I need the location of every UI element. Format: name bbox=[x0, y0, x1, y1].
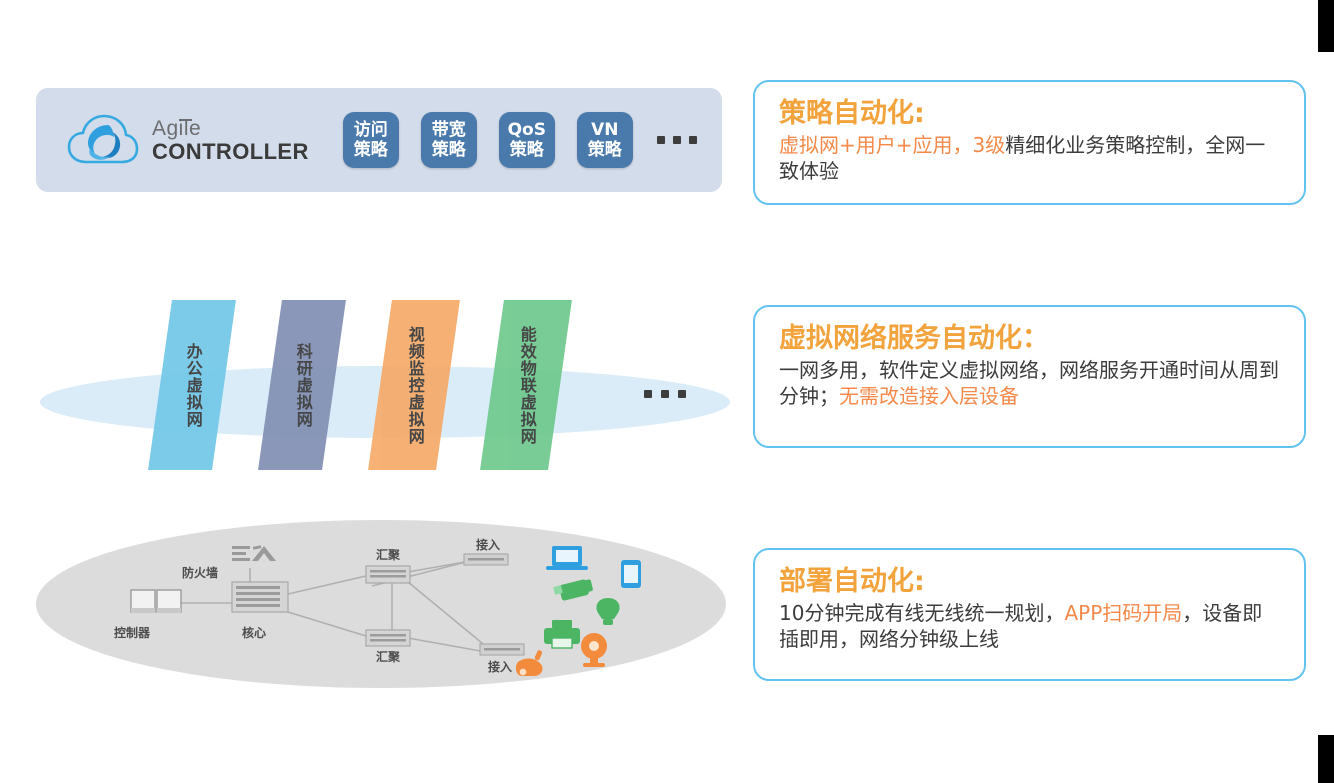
policy-more-ellipsis bbox=[657, 136, 697, 144]
virtual-network-service-automation-title: 虚拟网络服务自动化： bbox=[779, 323, 1282, 354]
ellipsis-dot bbox=[678, 390, 686, 398]
macron-accent bbox=[179, 119, 192, 121]
cloud-swirl-icon bbox=[66, 112, 140, 168]
slide-canvas: Agile CONTROLLER 访问 策略 带宽 策略 QoS 策略 VN 策… bbox=[0, 0, 1334, 783]
right-edge-bar-top bbox=[1318, 0, 1334, 52]
policy-automation-highlight: 虚拟网+用户+应用，3级 bbox=[779, 133, 1005, 157]
access-switch-icon-top bbox=[464, 554, 508, 565]
deployment-automation-title: 部署自动化: bbox=[779, 566, 1282, 597]
virtual-network-slices-graphic: 办公虚拟网 科研虚拟网 视频监控虚拟网 能效物联虚拟网 bbox=[36, 300, 736, 500]
access-top-node-label: 接入 bbox=[476, 536, 500, 553]
access-policy-button[interactable]: 访问 策略 bbox=[343, 112, 399, 168]
printer-icon bbox=[544, 620, 580, 648]
deployment-automation-body: 10分钟完成有线无线统一规划，APP扫码开局，设备即插即用，网络分钟级上线 bbox=[779, 600, 1282, 653]
agile-controller-logo: Agile CONTROLLER bbox=[66, 112, 309, 168]
tablet-icon bbox=[621, 560, 641, 588]
virtual-network-more-ellipsis bbox=[644, 390, 686, 398]
bandwidth-policy-button[interactable]: 带宽 策略 bbox=[421, 112, 477, 168]
research-vn-label: 科研虚拟网 bbox=[293, 343, 312, 428]
logo-brand-top: Agile bbox=[152, 118, 201, 139]
ellipsis-dot bbox=[644, 390, 652, 398]
aggregation-bottom-node-label: 汇聚 bbox=[376, 648, 400, 665]
core-switch-icon bbox=[232, 582, 288, 612]
ellipsis-dot bbox=[689, 136, 697, 144]
deployment-automation-card: 部署自动化: 10分钟完成有线无线统一规划，APP扫码开局，设备即插即用，网络分… bbox=[753, 548, 1306, 681]
aggregation-switch-icon-bottom bbox=[366, 630, 410, 646]
energy-iot-vn-label: 能效物联虚拟网 bbox=[517, 326, 536, 445]
access-bottom-node-label: 接入 bbox=[488, 658, 512, 675]
policy-button-row: 访问 策略 带宽 策略 QoS 策略 VN 策略 bbox=[343, 112, 697, 168]
dome-camera-icon bbox=[581, 633, 607, 667]
logo-wordmark: Agile CONTROLLER bbox=[152, 118, 309, 163]
office-vn-label: 办公虚拟网 bbox=[183, 343, 202, 428]
core-node-label: 核心 bbox=[242, 624, 266, 641]
policy-automation-card: 策略自动化: 虚拟网+用户+应用，3级精细化业务策略控制，全网一致体验 bbox=[753, 80, 1306, 205]
virtual-network-service-automation-card: 虚拟网络服务自动化： 一网多用，软件定义虚拟网络，网络服务开通时间从周到分钟；无… bbox=[753, 305, 1306, 448]
research-vn-slice: 科研虚拟网 bbox=[258, 300, 346, 470]
aggregation-switch-icon-top bbox=[366, 566, 410, 583]
energy-iot-vn-slice: 能效物联虚拟网 bbox=[480, 300, 572, 470]
ellipsis-dot bbox=[661, 390, 669, 398]
light-bulb-icon bbox=[596, 598, 619, 625]
controller-node-label: 控制器 bbox=[114, 624, 150, 641]
laptop-icon bbox=[546, 546, 588, 570]
policy-automation-body: 虚拟网+用户+应用，3级精细化业务策略控制，全网一致体验 bbox=[779, 132, 1282, 185]
aggregation-top-node-label: 汇聚 bbox=[376, 546, 400, 563]
server-pair-icon bbox=[131, 590, 181, 613]
video-surveillance-vn-label: 视频监控虚拟网 bbox=[405, 326, 424, 445]
deployment-topology-graphic: 控制器 防火墙 核心 汇聚 汇聚 接入 接入 bbox=[36, 520, 736, 690]
office-vn-slice: 办公虚拟网 bbox=[148, 300, 236, 470]
vn-policy-button[interactable]: VN 策略 bbox=[577, 112, 633, 168]
policy-automation-title: 策略自动化: bbox=[779, 98, 1282, 129]
logo-brand-bottom: CONTROLLER bbox=[152, 141, 309, 163]
access-switch-icon-bottom bbox=[480, 644, 524, 655]
vn-service-body-highlight: 无需改造接入层设备 bbox=[839, 384, 1019, 408]
qos-policy-button[interactable]: QoS 策略 bbox=[499, 112, 555, 168]
firewall-icon bbox=[232, 545, 276, 561]
firewall-node-label: 防火墙 bbox=[182, 564, 218, 581]
virtual-network-service-automation-body: 一网多用，软件定义虚拟网络，网络服务开通时间从周到分钟；无需改造接入层设备 bbox=[779, 357, 1282, 410]
access-point-icon bbox=[553, 579, 593, 601]
agile-controller-panel: Agile CONTROLLER 访问 策略 带宽 策略 QoS 策略 VN 策… bbox=[36, 88, 722, 192]
ellipsis-dot bbox=[673, 136, 681, 144]
deployment-body-highlight: APP扫码开局 bbox=[1064, 601, 1182, 625]
deployment-body-lead: 10分钟完成有线无线统一规划， bbox=[779, 601, 1064, 625]
right-edge-bar-bottom bbox=[1318, 735, 1334, 783]
video-surveillance-vn-slice: 视频监控虚拟网 bbox=[368, 300, 460, 470]
ellipsis-dot bbox=[657, 136, 665, 144]
